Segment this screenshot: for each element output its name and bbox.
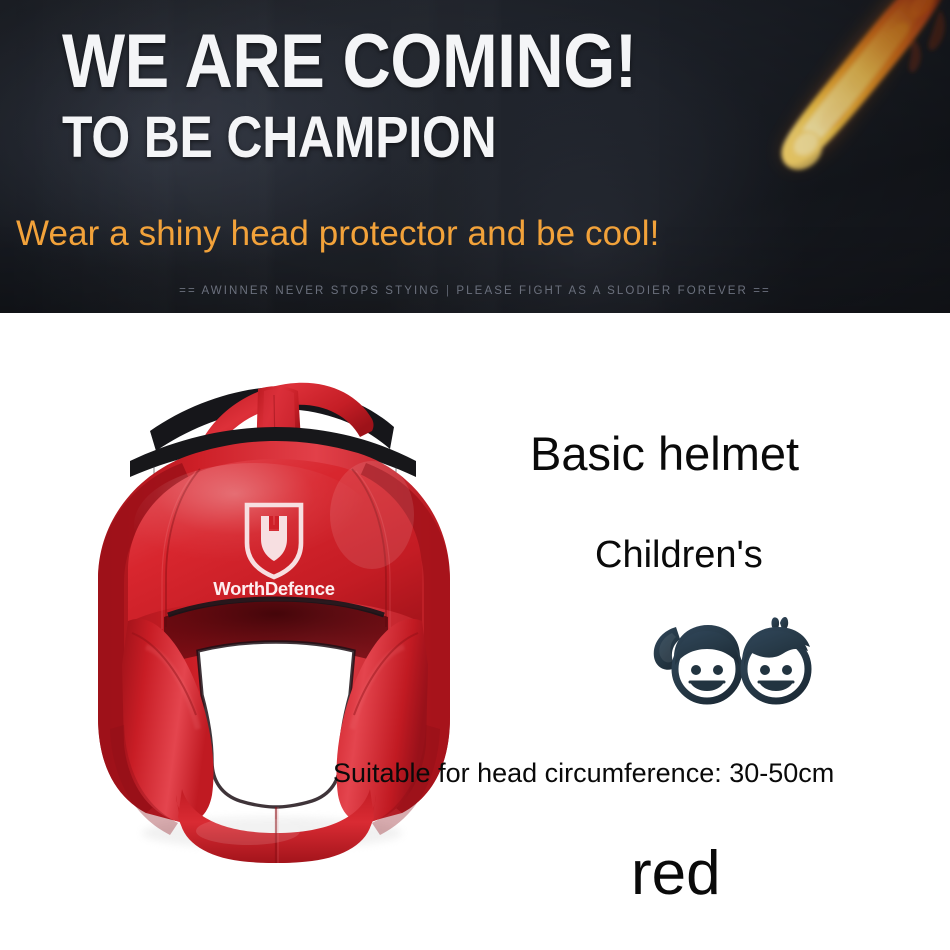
tagline-right-text: PLEASE FIGHT AS A SLODIER FOREVER == xyxy=(456,285,770,297)
banner-tagline: == AWINNER NEVER STOPS STYING | PLEASE F… xyxy=(0,285,950,297)
product-ad-page: WE ARE COMING! TO BE CHAMPION Wear a shi… xyxy=(0,0,950,950)
promo-banner: WE ARE COMING! TO BE CHAMPION Wear a shi… xyxy=(0,0,950,313)
product-color-label: red xyxy=(631,837,721,911)
helmet-product-image: WorthDefence xyxy=(72,365,472,865)
product-section: WorthDefence xyxy=(0,313,950,950)
product-title: Basic helmet xyxy=(530,426,930,481)
children-faces-icon xyxy=(646,613,818,709)
helmet-face-opening xyxy=(198,642,354,807)
tagline-left-text: == AWINNER NEVER STOPS STYING xyxy=(179,285,441,297)
girl-face-icon xyxy=(654,625,740,701)
banner-headline-primary: WE ARE COMING! xyxy=(62,20,637,104)
banner-subheadline: Wear a shiny head protector and be cool! xyxy=(16,212,659,256)
boy-face-icon xyxy=(742,617,810,701)
product-audience-label: Children's xyxy=(595,532,935,578)
tagline-divider: | xyxy=(446,285,451,297)
product-size-text: Suitable for head circumference: 30-50cm xyxy=(333,756,834,790)
helmet-brand-text: WorthDefence xyxy=(213,578,334,599)
banner-headline-secondary: TO BE CHAMPION xyxy=(62,106,497,170)
flame-icon xyxy=(726,0,950,197)
